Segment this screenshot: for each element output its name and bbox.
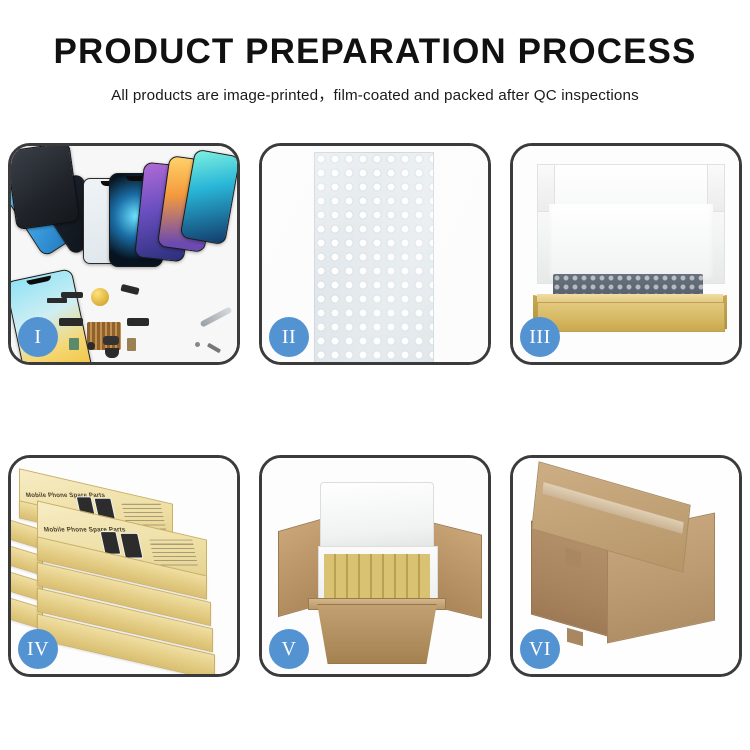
page-header: PRODUCT PREPARATION PROCESS All products… [0, 0, 750, 105]
flex-cable-part-4 [127, 318, 149, 326]
process-step-panel-6[interactable]: VI [510, 455, 742, 677]
camera-lens-part [91, 288, 109, 306]
sim-tray-part [127, 338, 136, 351]
gold-boxes-inside [324, 554, 430, 600]
button-part [87, 342, 95, 350]
process-step-panel-1[interactable]: I [8, 143, 240, 365]
flex-cable-part-3 [59, 318, 83, 326]
box-product-image-2b [119, 533, 143, 559]
step-badge-6: VI [520, 629, 560, 669]
step-badge-4: IV [18, 629, 58, 669]
speaker-part [103, 336, 119, 345]
ic-chip-part [47, 298, 67, 303]
process-step-grid: I II [8, 143, 742, 677]
foam-sheet [549, 204, 713, 282]
page-title: PRODUCT PREPARATION PROCESS [0, 34, 750, 71]
page-subtitle: All products are image-printed，film-coat… [0, 83, 750, 105]
phone-back-housing [11, 146, 80, 230]
process-step-panel-3[interactable]: III [510, 143, 742, 365]
screw-part [195, 342, 200, 347]
process-step-panel-4[interactable]: Mobile Phone Spare Parts Mobile Phone Sp… [8, 455, 240, 677]
battery-part [69, 338, 79, 350]
foam-box-lid [320, 482, 434, 550]
camera-module-part [105, 348, 119, 358]
step-badge-5: V [269, 629, 309, 669]
gold-box-front [537, 302, 725, 332]
step-badge-3: III [520, 317, 560, 357]
carton-front [312, 604, 442, 664]
process-step-panel-5[interactable]: V [259, 455, 491, 677]
step-badge-2: II [269, 317, 309, 357]
step-badge-1: I [18, 317, 58, 357]
process-step-panel-2[interactable]: II [259, 143, 491, 365]
